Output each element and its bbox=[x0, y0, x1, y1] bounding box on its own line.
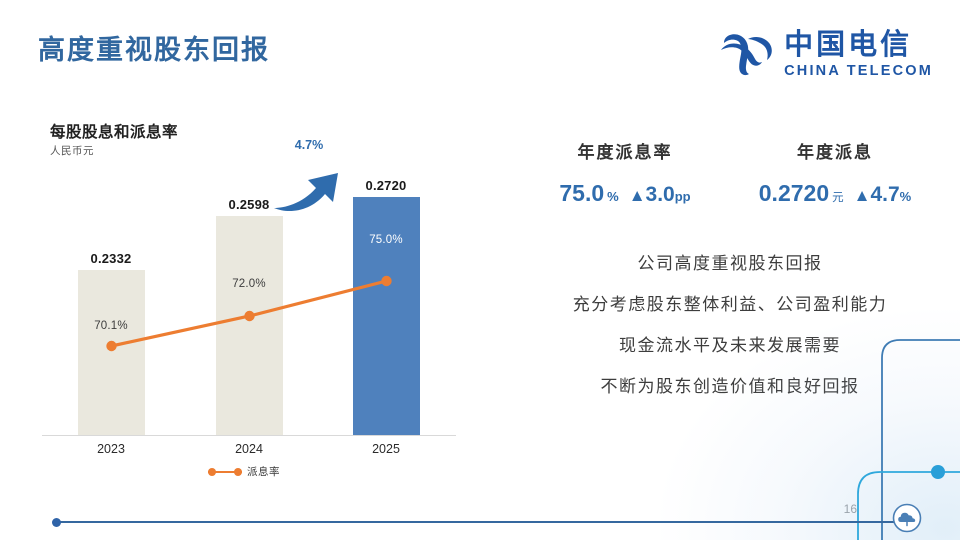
logo-text: 中国电信 CHINA TELECOM bbox=[784, 30, 933, 79]
body-line-1: 公司高度重视股东回报 bbox=[500, 256, 960, 273]
footer-dot bbox=[52, 518, 61, 527]
stat-unit-dividend: 元 bbox=[832, 189, 844, 205]
curved-up-arrow-icon bbox=[272, 150, 350, 216]
x-label-2025: 2025 bbox=[331, 442, 441, 456]
decorative-dot bbox=[931, 465, 945, 479]
footer-rule bbox=[56, 521, 916, 523]
stat-row-dividend: 0.2720 元 ▲4.7% bbox=[730, 180, 940, 207]
chart-x-axis-labels: 2023 2024 2025 bbox=[24, 442, 464, 462]
chart-legend: 派息率 bbox=[24, 464, 464, 479]
dividend-chart: 每股股息和派息率 人民币元 0.2332 0.2598 0.2720 70.1%… bbox=[24, 112, 464, 482]
page-number: 16 bbox=[844, 502, 857, 516]
stat-value-dividend: 0.2720 bbox=[759, 180, 829, 207]
x-label-2023: 2023 bbox=[56, 442, 166, 456]
logo-english-name: CHINA TELECOM bbox=[784, 64, 933, 79]
up-arrow-icon: ▲ bbox=[629, 186, 646, 205]
stat-delta-value-payout-ratio: 3.0 bbox=[646, 183, 675, 206]
stat-delta-suffix-dividend: % bbox=[900, 189, 912, 204]
stat-label-payout-ratio: 年度派息率 bbox=[520, 138, 730, 163]
x-label-2024: 2024 bbox=[194, 442, 304, 456]
stat-delta-suffix-payout-ratio: pp bbox=[675, 189, 691, 204]
stat-label-dividend: 年度派息 bbox=[730, 138, 940, 163]
payout-ratio-line bbox=[24, 160, 464, 436]
china-telecom-swoosh-icon bbox=[719, 30, 775, 78]
kpi-stats: 年度派息率 75.0 % ▲3.0pp 年度派息 0.2720 元 ▲4.7% bbox=[520, 138, 940, 207]
stat-annual-dividend: 年度派息 0.2720 元 ▲4.7% bbox=[730, 138, 940, 207]
cloud-upload-icon[interactable] bbox=[890, 501, 924, 535]
slide-root: 高度重视股东回报 中国电信 CHINA TELECOM 每股股息和派息率 人民币… bbox=[0, 0, 960, 540]
up-arrow-icon: ▲ bbox=[854, 186, 871, 205]
china-telecom-logo: 中国电信 CHINA TELECOM bbox=[719, 30, 933, 79]
chart-plot-area: 0.2332 0.2598 0.2720 70.1% 72.0% 75.0% 4… bbox=[24, 160, 464, 436]
page-title: 高度重视股东回报 bbox=[38, 28, 270, 67]
stat-row-payout-ratio: 75.0 % ▲3.0pp bbox=[520, 180, 730, 207]
stat-delta-value-dividend: 4.7 bbox=[870, 183, 899, 206]
body-line-2: 充分考虑股东整体利益、公司盈利能力 bbox=[500, 297, 960, 314]
stat-value-payout-ratio: 75.0 bbox=[559, 180, 604, 207]
logo-chinese-name: 中国电信 bbox=[784, 30, 912, 59]
stat-unit-payout-ratio: % bbox=[607, 189, 619, 204]
legend-label-payout-ratio: 派息率 bbox=[247, 464, 280, 479]
stat-delta-payout-ratio: ▲3.0pp bbox=[629, 183, 691, 207]
chart-title: 每股股息和派息率 bbox=[50, 120, 178, 142]
chart-subtitle: 人民币元 bbox=[50, 143, 94, 158]
stat-delta-dividend: ▲4.7% bbox=[854, 183, 912, 207]
stat-annual-payout-ratio: 年度派息率 75.0 % ▲3.0pp bbox=[520, 138, 730, 207]
legend-marker-icon bbox=[208, 467, 242, 476]
